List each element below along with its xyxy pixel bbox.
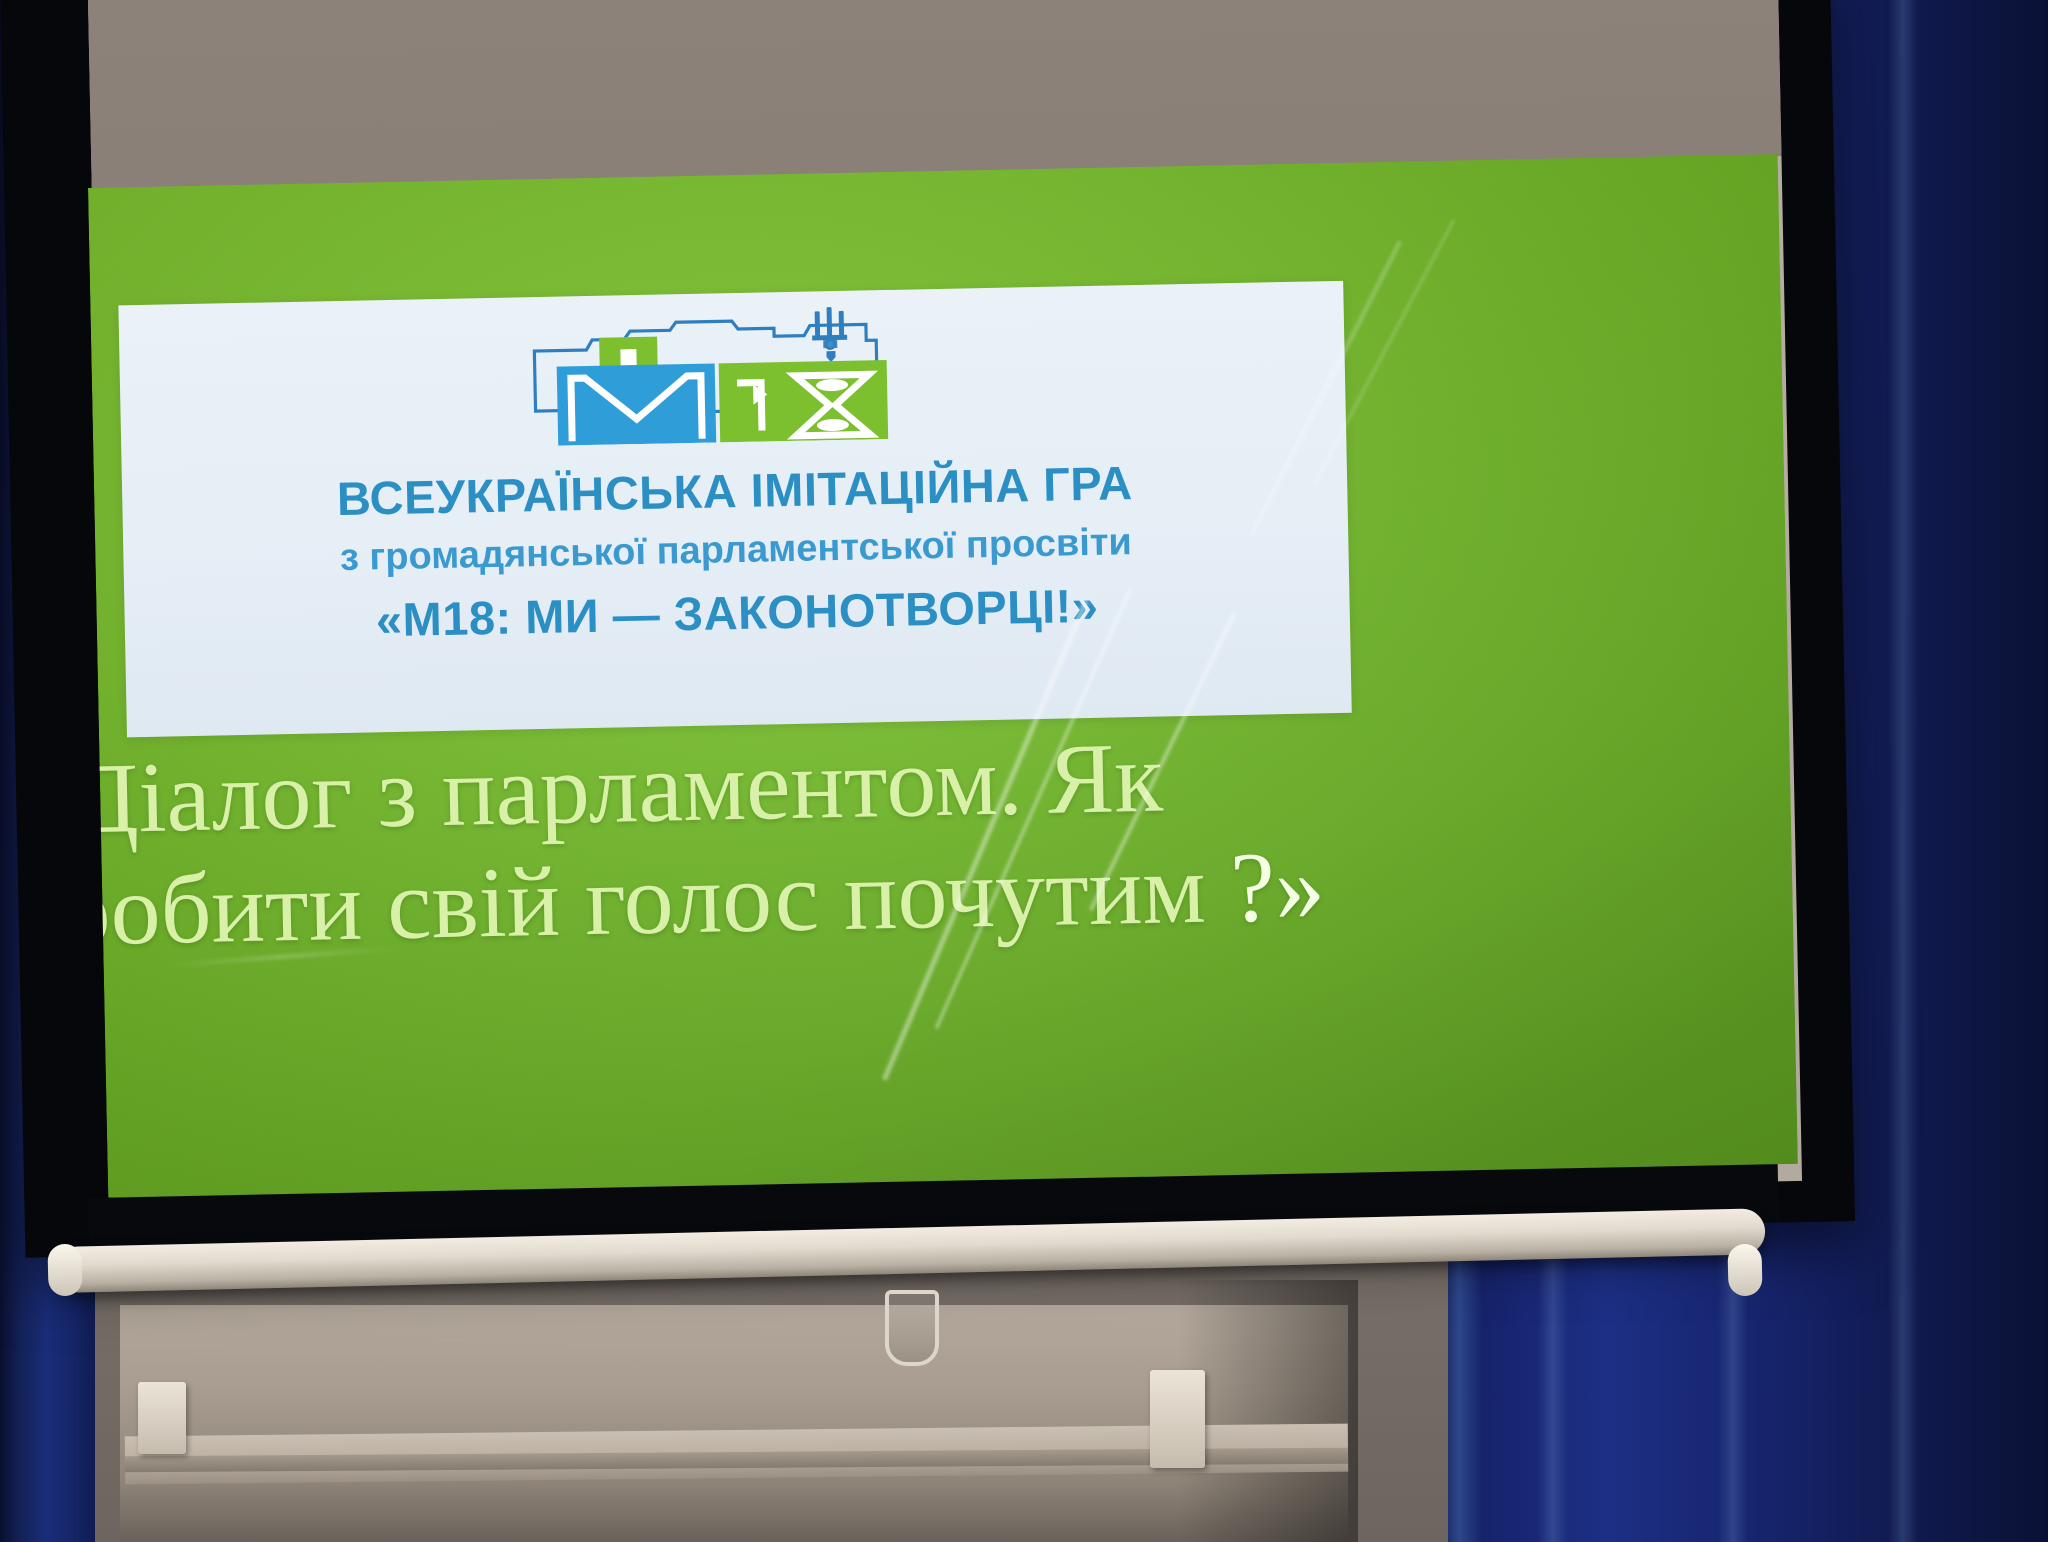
curtain-highlight: [1888, 0, 1918, 1542]
slide-headline: Діалог з парламентом. Як робити свій гол…: [88, 708, 1798, 968]
slide-headline-line-2-tail: ?»: [1229, 830, 1326, 943]
photo-scene: ВСЕУКРАЇНСЬКА ІМІТАЦІЙНА ГРА з громадянс…: [0, 0, 2048, 1542]
wall-outlet-middle[interactable]: [1150, 1370, 1205, 1468]
screen-roller-cap-right: [1727, 1244, 1762, 1297]
slide-white-card: ВСЕУКРАЇНСЬКА ІМІТАЦІЙНА ГРА з громадянс…: [118, 281, 1351, 737]
trident-icon: [812, 307, 848, 363]
slide-subtitle-primary: ВСЕУКРАЇНСЬКА ІМІТАЦІЙНА ГРА: [122, 451, 1348, 531]
wall-shadow: [1178, 1280, 1358, 1542]
screen-pull-handle[interactable]: [885, 1290, 939, 1366]
slide-headline-line-2-text: робити свій голос почутим: [88, 832, 1232, 966]
slide-subtitle-secondary: з громадянської парламентської просвіти: [123, 517, 1349, 585]
wall-outlet-left[interactable]: [138, 1382, 186, 1454]
m18-logo: [474, 303, 947, 447]
slide-program-name: «М18: МИ — ЗАКОНОТВОРЦІ!»: [124, 573, 1350, 653]
projected-slide: ВСЕУКРАЇНСЬКА ІМІТАЦІЙНА ГРА з громадянс…: [88, 154, 1798, 1198]
m18-logo-svg: [474, 303, 947, 447]
screen-roller-cap-left: [47, 1244, 82, 1297]
